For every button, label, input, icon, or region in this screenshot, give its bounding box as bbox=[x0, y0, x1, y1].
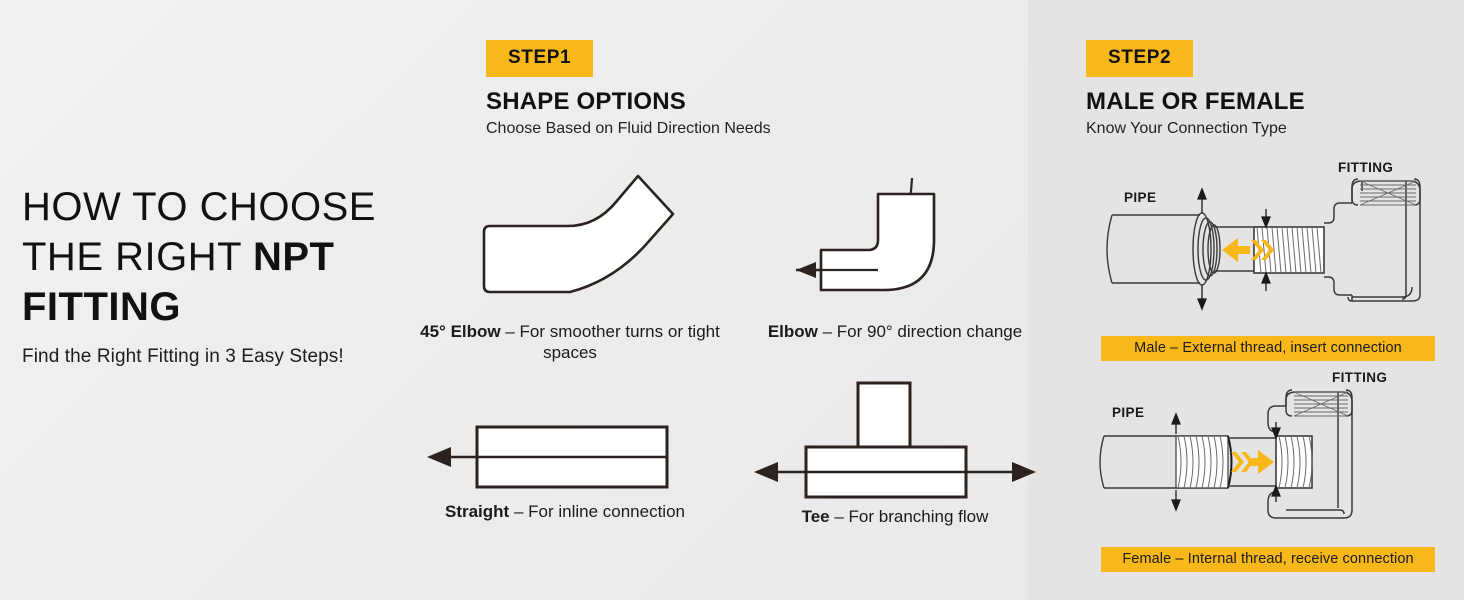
male-caption-bar: Male – External thread, insert connectio… bbox=[1101, 336, 1435, 361]
hero-block: HOW TO CHOOSE THE RIGHT NPT FITTING Find… bbox=[22, 182, 452, 368]
step1-subheading: Choose Based on Fluid Direction Needs bbox=[486, 120, 771, 138]
hero-subtitle: Find the Right Fitting in 3 Easy Steps! bbox=[22, 346, 452, 368]
shape-dash-3: – bbox=[830, 507, 849, 526]
shape-name-elbow-45: 45° Elbow bbox=[420, 322, 500, 341]
shape-desc-elbow-90: For 90° direction change bbox=[837, 322, 1022, 341]
page-title: HOW TO CHOOSE THE RIGHT NPT FITTING bbox=[22, 182, 452, 332]
male-pipe-label: PIPE bbox=[1124, 190, 1156, 205]
tee-fitting-icon bbox=[750, 375, 1040, 500]
step1-header: STEP1 SHAPE OPTIONS Choose Based on Flui… bbox=[486, 40, 771, 138]
shape-dash-2: – bbox=[509, 502, 528, 521]
female-connection-diagram bbox=[1090, 378, 1450, 548]
elbow-45-icon bbox=[420, 170, 720, 315]
shape-caption-straight: Straight – For inline connection bbox=[415, 501, 715, 522]
step2-heading: MALE OR FEMALE bbox=[1086, 88, 1305, 116]
male-fitting-label: FITTING bbox=[1338, 160, 1393, 175]
shape-caption-tee: Tee – For branching flow bbox=[750, 506, 1040, 527]
step2-subheading: Know Your Connection Type bbox=[1086, 120, 1305, 138]
title-line-2-bold: NPT bbox=[253, 235, 335, 279]
shape-caption-elbow-90: Elbow – For 90° direction change bbox=[760, 321, 1030, 342]
step2-badge: STEP2 bbox=[1086, 40, 1193, 77]
shape-card-elbow-45: 45° Elbow – For smoother turns or tight … bbox=[420, 170, 720, 363]
shape-desc-elbow-45: For smoother turns or tight spaces bbox=[520, 322, 720, 362]
shape-dash-1: – bbox=[818, 322, 837, 341]
shape-desc-tee: For branching flow bbox=[849, 507, 989, 526]
shape-name-straight: Straight bbox=[445, 502, 509, 521]
shape-card-straight: Straight – For inline connection bbox=[415, 415, 715, 522]
female-fitting-label: FITTING bbox=[1332, 370, 1387, 385]
female-connection-illustration bbox=[1090, 378, 1450, 548]
title-line-2-plain: THE RIGHT bbox=[22, 235, 253, 279]
step1-heading: SHAPE OPTIONS bbox=[486, 88, 771, 116]
female-caption-bar: Female – Internal thread, receive connec… bbox=[1101, 547, 1435, 572]
female-pipe-label: PIPE bbox=[1112, 405, 1144, 420]
straight-fitting-icon bbox=[415, 415, 715, 495]
shape-name-tee: Tee bbox=[802, 507, 830, 526]
shape-card-tee: Tee – For branching flow bbox=[750, 375, 1040, 527]
title-line-1: HOW TO CHOOSE bbox=[22, 185, 376, 229]
infographic-root: HOW TO CHOOSE THE RIGHT NPT FITTING Find… bbox=[0, 0, 1464, 600]
title-line-3-bold: FITTING bbox=[22, 285, 181, 329]
shape-desc-straight: For inline connection bbox=[528, 502, 685, 521]
shape-name-elbow-90: Elbow bbox=[768, 322, 818, 341]
shape-dash-0: – bbox=[501, 322, 520, 341]
elbow-90-icon bbox=[760, 170, 1030, 315]
step1-badge: STEP1 bbox=[486, 40, 593, 77]
shape-card-elbow-90: Elbow – For 90° direction change bbox=[760, 170, 1030, 342]
step2-header: STEP2 MALE OR FEMALE Know Your Connectio… bbox=[1086, 40, 1305, 138]
shape-caption-elbow-45: 45° Elbow – For smoother turns or tight … bbox=[420, 321, 720, 363]
